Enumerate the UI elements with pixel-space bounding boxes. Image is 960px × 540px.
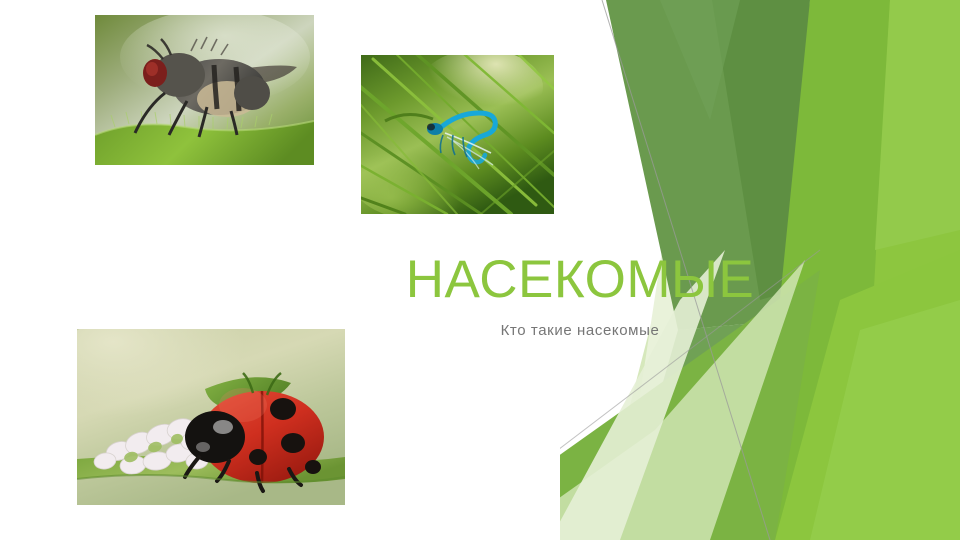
facet-shape-dark-triangle-top <box>660 0 740 120</box>
presentation-slide: НАСЕКОМЫЕ Кто такие насекомые <box>0 0 960 540</box>
subtitle-placeholder[interactable]: Кто такие насекомые <box>400 322 760 339</box>
facet-shape-bright-column <box>756 0 890 540</box>
facet-shape-mid-lower-left <box>560 270 820 540</box>
housefly-photo-svg <box>95 15 314 165</box>
facet-shape-mid-lower-right <box>775 250 960 540</box>
slide-subtitle: Кто такие насекомые <box>400 322 760 339</box>
damselfly-photo[interactable] <box>361 55 554 214</box>
title-placeholder[interactable]: НАСЕКОМЫЕ <box>400 252 760 308</box>
housefly-photo[interactable] <box>95 15 314 165</box>
facet-shape-light-right <box>875 0 960 250</box>
damselfly-photo-svg <box>361 55 554 214</box>
slide-title: НАСЕКОМЫЕ <box>400 252 760 308</box>
facet-shape-bright-accent-bottom <box>810 300 960 540</box>
ladybug-photo[interactable] <box>77 329 345 505</box>
ladybug-photo-svg <box>77 329 345 505</box>
